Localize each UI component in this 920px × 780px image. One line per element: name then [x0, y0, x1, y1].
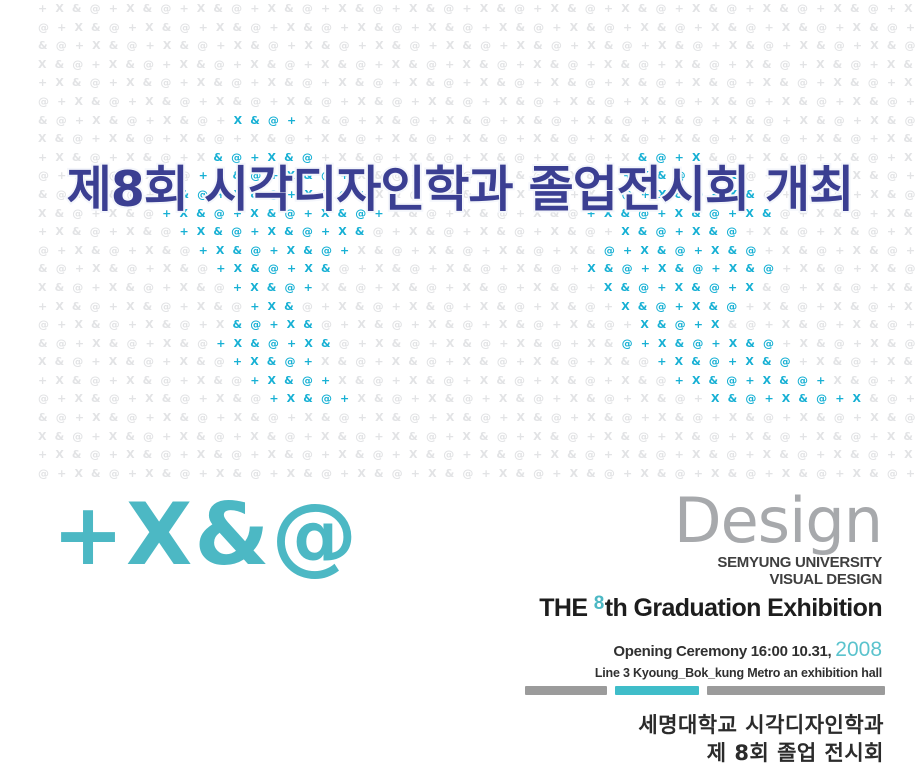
- footer-credit-line-1: 세명대학교 시각디자인학과: [384, 712, 884, 740]
- pattern-row: +X&@+X&@+X&@+X&@+X&@+X&@+X&@+X&@+X&@+X&@…: [0, 0, 920, 19]
- exhibition-title: THE 8th Graduation Exhibition: [462, 594, 882, 623]
- poster-root: +X&@+X&@+X&@+X&@+X&@+X&@+X&@+X&@+X&@+X&@…: [0, 0, 920, 780]
- ceremony-year: 2008: [835, 638, 882, 661]
- pattern-row: &@+X&@+X&@+X&@+X&@+X&@+X&@+X&@+X&@+X&@+X…: [0, 335, 920, 354]
- footer-credit-line-2: 제 8회 졸업 전시회: [384, 740, 884, 768]
- footer-credit: 세명대학교 시각디자인학과 제 8회 졸업 전시회: [384, 712, 884, 768]
- pattern-row: &@+X&@+X&@+X&@+X&@+X&@+X&@+X&@+X&@+X&@+X…: [0, 409, 920, 428]
- pattern-row: &@+X&@+X&@+X&@+X&@+X&@+X&@+X&@+X&@+X&@+X…: [0, 112, 920, 131]
- design-wordmark: Design: [462, 492, 882, 551]
- pattern-row: @+X&@+X&@+X&@+X&@+X&@+X&@+X&@+X&@+X&@+X&…: [0, 93, 920, 112]
- exhibition-title-prefix: THE: [539, 594, 594, 622]
- pattern-row: +X&@+X&@+X&@+X&@+X&@+X&@+X&@+X&@+X&@+X&@…: [0, 298, 920, 317]
- bar-teal-mid: [615, 686, 699, 695]
- pattern-row: @+X&@+X&@+X&@+X&@+X&@+X&@+X&@+X&@+X&@+X&…: [0, 316, 920, 335]
- pattern-row: +X&@+X&@+X&@+X&@+X&@+X&@+X&@+X&@+X&@+X&@…: [0, 372, 920, 391]
- rule-bar-strip: [0, 686, 920, 695]
- pattern-row: &@+X&@+X&@+X&@+X&@+X&@+X&@+X&@+X&@+X&@+X…: [0, 37, 920, 56]
- department-name: VISUAL DESIGN: [462, 572, 882, 589]
- glyph-pattern-background: +X&@+X&@+X&@+X&@+X&@+X&@+X&@+X&@+X&@+X&@…: [0, 0, 920, 490]
- pattern-row: &@+X&@+X&@+X&@+X&@+X&@+X&@+X&@+X&@+X&@+X…: [0, 260, 920, 279]
- pattern-row: +X&@+X&@+X&@+X&@+X&@+X&@+X&@+X&@+X&@+X&@…: [0, 74, 920, 93]
- pattern-row: @+X&@+X&@+X&@+X&@+X&@+X&@+X&@+X&@+X&@+X&…: [0, 390, 920, 409]
- exhibition-info-block: Design SEMYUNG UNIVERSITY VISUAL DESIGN …: [462, 492, 882, 680]
- exhibition-title-suffix: th Graduation Exhibition: [605, 594, 882, 622]
- bar-gray-left: [525, 686, 607, 695]
- university-name: SEMYUNG UNIVERSITY: [462, 555, 882, 572]
- opening-ceremony-line: Opening Ceremony 16:00 10.31, 2008: [462, 637, 882, 662]
- logo-mark: +X&@: [52, 492, 359, 578]
- pattern-row: X&@+X&@+X&@+X&@+X&@+X&@+X&@+X&@+X&@+X&@+…: [0, 130, 920, 149]
- pattern-row: +X&@+X&@+X&@+X&@+X&@+X&@+X&@+X&@+X&@+X&@…: [0, 223, 920, 242]
- pattern-row: X&@+X&@+X&@+X&@+X&@+X&@+X&@+X&@+X&@+X&@+…: [0, 428, 920, 447]
- bar-gray-right: [707, 686, 885, 695]
- pattern-row: @+X&@+X&@+X&@+X&@+X&@+X&@+X&@+X&@+X&@+X&…: [0, 465, 920, 484]
- pattern-row: X&@+X&@+X&@+X&@+X&@+X&@+X&@+X&@+X&@+X&@+…: [0, 56, 920, 75]
- page-title: 제8회 시각디자인학과 졸업전시회 개최: [0, 150, 920, 221]
- pattern-row: X&@+X&@+X&@+X&@+X&@+X&@+X&@+X&@+X&@+X&@+…: [0, 353, 920, 372]
- pattern-row: @+X&@+X&@+X&@+X&@+X&@+X&@+X&@+X&@+X&@+X&…: [0, 242, 920, 261]
- venue-line: Line 3 Kyoung_Bok_kung Metro an exhibiti…: [462, 666, 882, 680]
- exhibition-ordinal-number: 8: [594, 593, 604, 614]
- pattern-row: +X&@+X&@+X&@+X&@+X&@+X&@+X&@+X&@+X&@+X&@…: [0, 446, 920, 465]
- pattern-row: @+X&@+X&@+X&@+X&@+X&@+X&@+X&@+X&@+X&@+X&…: [0, 19, 920, 38]
- ceremony-datetime: Opening Ceremony 16:00 10.31,: [613, 643, 835, 660]
- pattern-row: X&@+X&@+X&@+X&@+X&@+X&@+X&@+X&@+X&@+X&@+…: [0, 279, 920, 298]
